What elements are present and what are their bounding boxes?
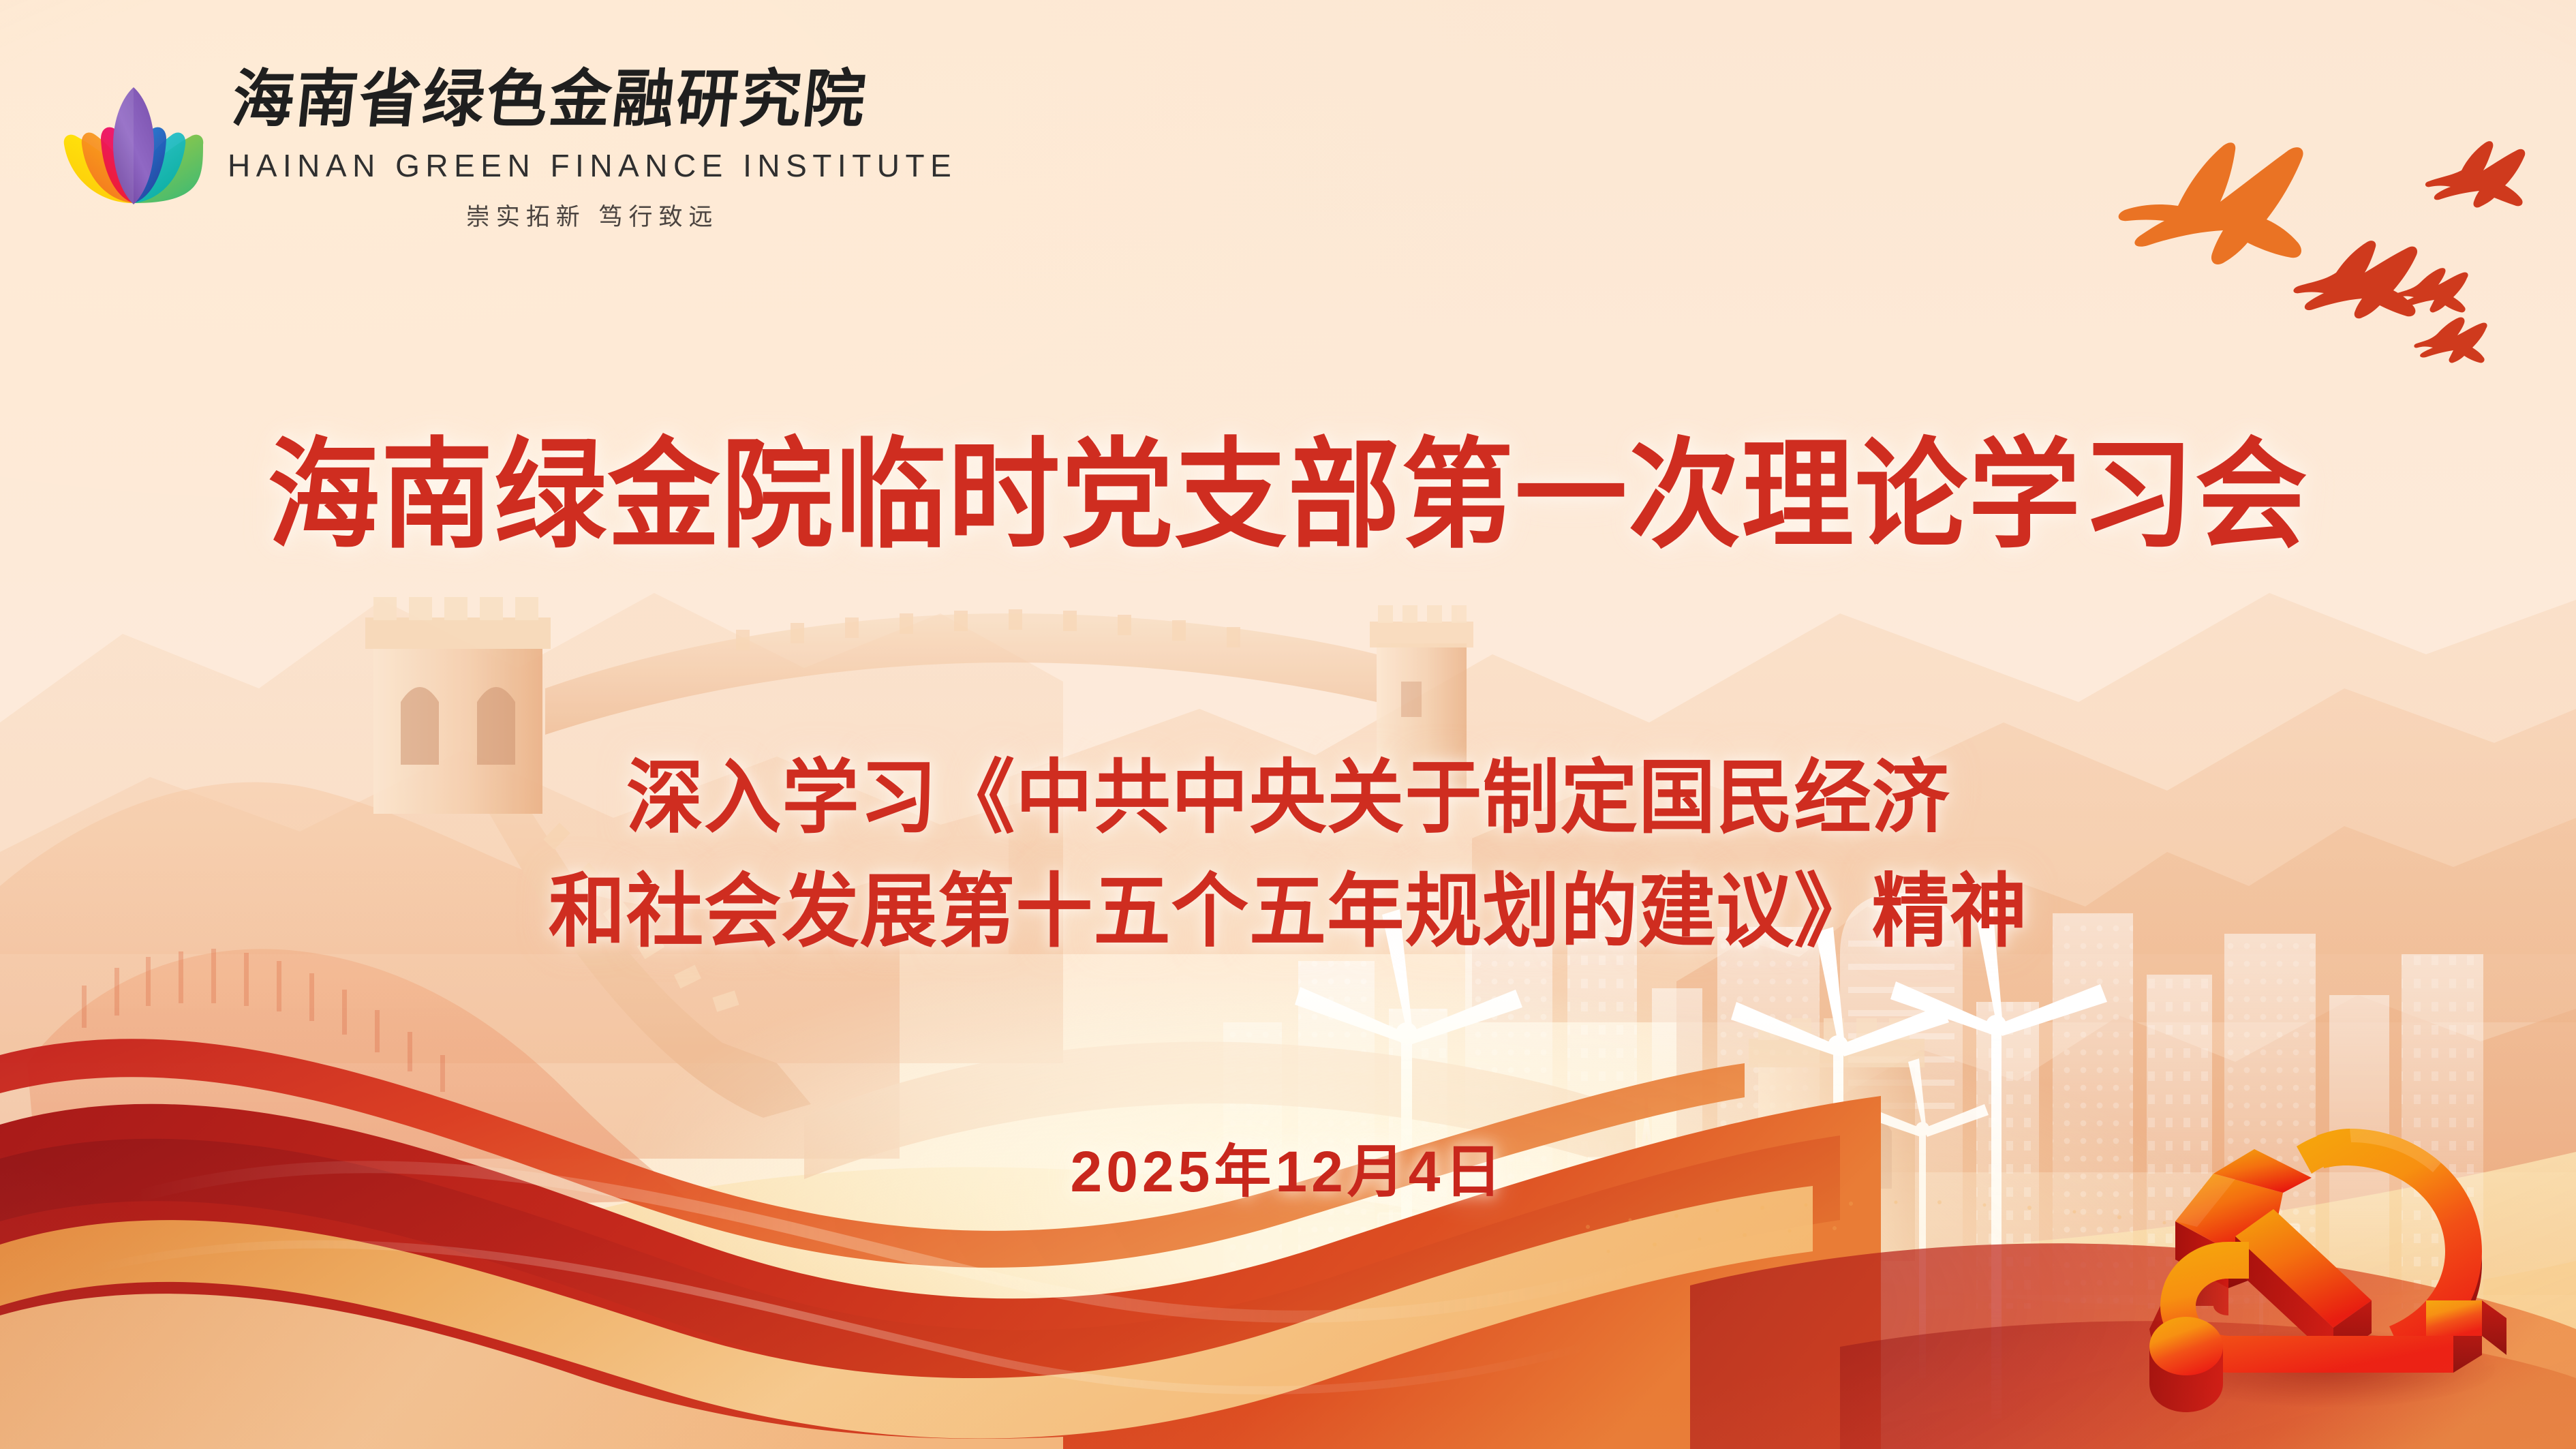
- lotus-logo-icon: [57, 76, 210, 218]
- poster-subtitle: 深入学习《中共中央关于制定国民经济 和社会发展第十五个五年规划的建议》精神: [52, 743, 2525, 968]
- brand-name-cn: 海南省绿色金融研究院: [228, 65, 951, 146]
- poster-canvas: 海南省绿色金融研究院 HAINAN GREEN FINANCE INSTITUT…: [0, 0, 2576, 1449]
- brand-name-en: HAINAN GREEN FINANCE INSTITUTE: [228, 147, 957, 184]
- page-title: 海南绿金院临时党支部第一次理论学习会: [77, 436, 2498, 555]
- subtitle-line-1: 深入学习《中共中央关于制定国民经济: [52, 743, 2525, 854]
- brand-text-group: 海南省绿色金融研究院 HAINAN GREEN FINANCE INSTITUT…: [228, 65, 957, 232]
- party-emblem-icon: [2133, 1076, 2515, 1416]
- brand-lockup: 海南省绿色金融研究院 HAINAN GREEN FINANCE INSTITUT…: [57, 65, 957, 232]
- brand-slogan: 崇实拓新 笃行致远: [466, 198, 719, 232]
- subtitle-line-2: 和社会发展第十五个五年规划的建议》精神: [52, 857, 2525, 968]
